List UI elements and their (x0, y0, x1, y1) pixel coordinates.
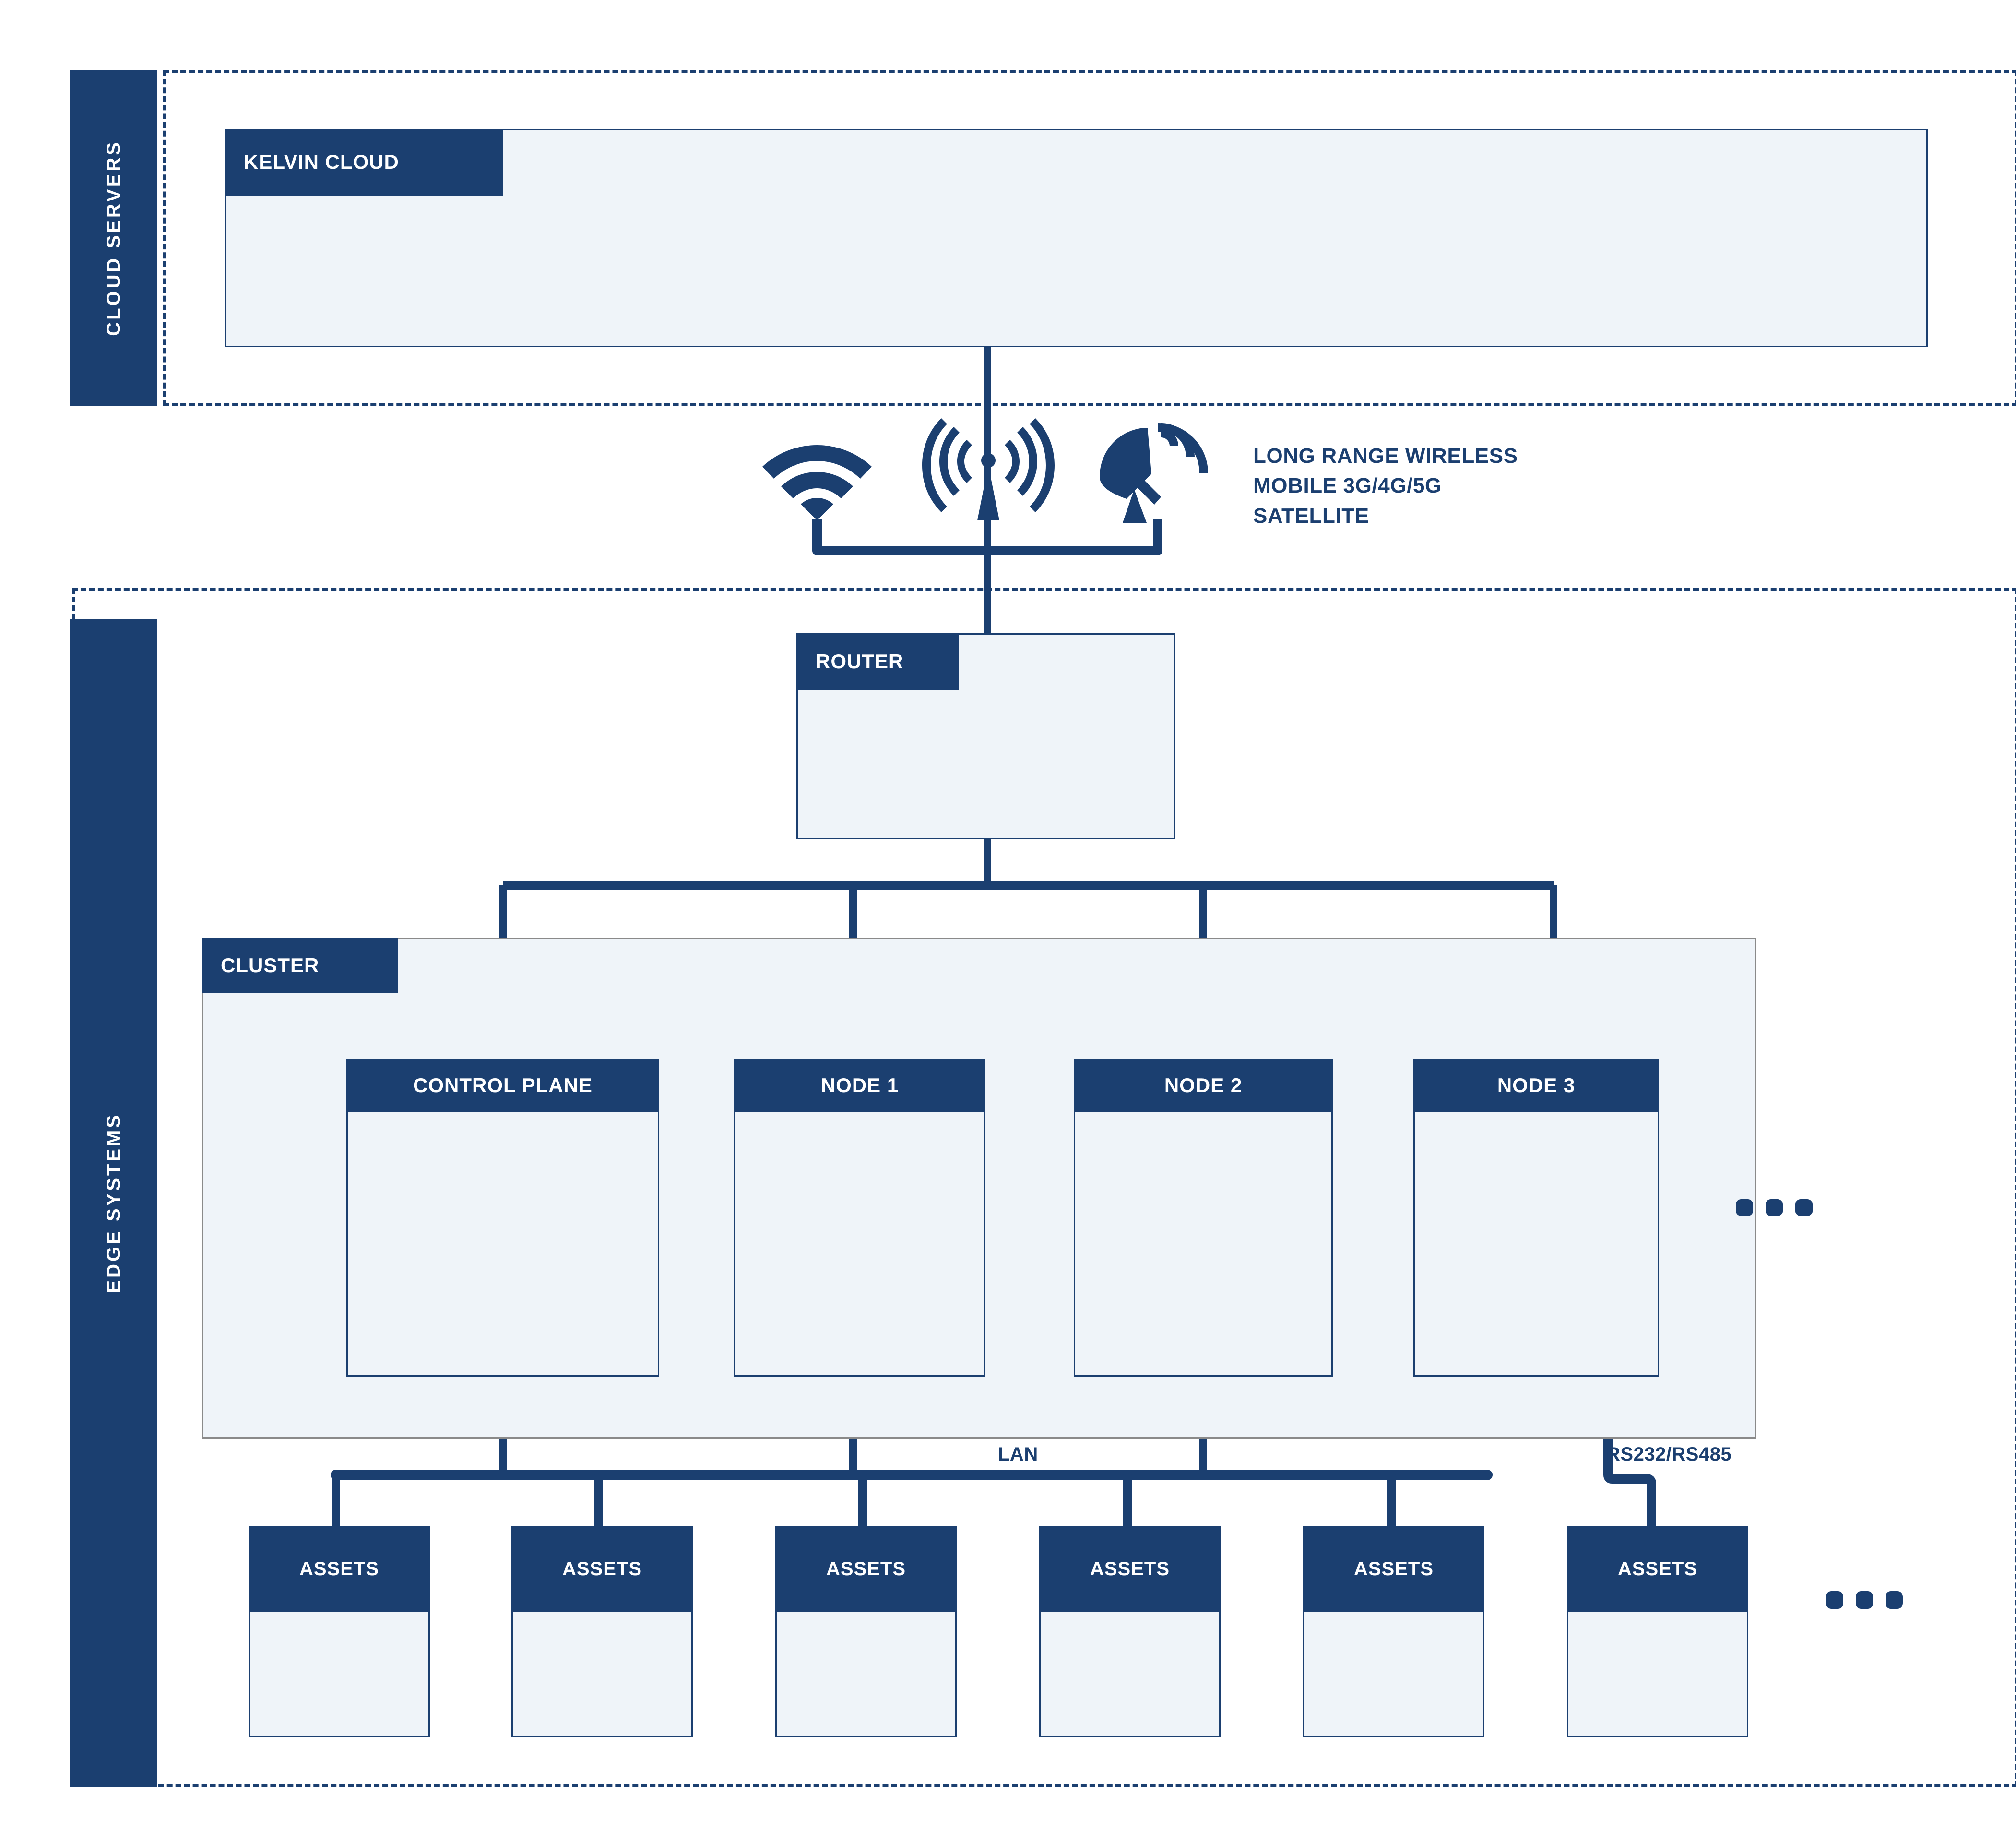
cluster-node-control-plane[interactable]: CONTROL PLANE (346, 1059, 659, 1377)
assets-overflow-dots (1826, 1591, 1903, 1609)
lan-link-label: LAN (998, 1444, 1038, 1465)
rs232-rs485-link-label: RS232/RS485 (1606, 1444, 1731, 1465)
asset-node-4[interactable]: ASSETS (1039, 1526, 1221, 1737)
assets-dot-1 (1826, 1591, 1843, 1609)
asset-node-2[interactable]: ASSETS (511, 1526, 693, 1737)
asset-6-header: ASSETS (1567, 1526, 1748, 1612)
asset-node-6[interactable]: ASSETS (1567, 1526, 1748, 1737)
asset-2-header: ASSETS (511, 1526, 693, 1612)
asset-3-header: ASSETS (775, 1526, 957, 1612)
cluster-dot-3 (1795, 1199, 1813, 1216)
router-label: ROUTER (816, 650, 903, 673)
router-node[interactable]: ROUTER (796, 633, 1175, 839)
node-1-header: NODE 1 (734, 1059, 985, 1112)
cluster-dot-2 (1766, 1199, 1783, 1216)
asset-node-5[interactable]: ASSETS (1303, 1526, 1484, 1737)
asset-4-header: ASSETS (1039, 1526, 1221, 1612)
asset-5-header: ASSETS (1303, 1526, 1484, 1612)
asset-6-label: ASSETS (1618, 1558, 1697, 1580)
router-header: ROUTER (796, 633, 959, 690)
node-1-label: NODE 1 (821, 1074, 899, 1097)
cluster-node-2[interactable]: NODE 2 (1074, 1059, 1333, 1377)
node-3-header: NODE 3 (1413, 1059, 1659, 1112)
asset-4-label: ASSETS (1090, 1558, 1170, 1580)
cluster-node-3[interactable]: NODE 3 (1413, 1059, 1659, 1377)
asset-2-label: ASSETS (562, 1558, 642, 1580)
kelvin-cloud-header: KELVIN CLOUD (225, 129, 503, 196)
cluster-dot-1 (1736, 1199, 1753, 1216)
assets-dot-2 (1856, 1591, 1873, 1609)
asset-1-header: ASSETS (249, 1526, 430, 1612)
asset-1-label: ASSETS (299, 1558, 379, 1580)
asset-node-3[interactable]: ASSETS (775, 1526, 957, 1737)
node-3-label: NODE 3 (1497, 1074, 1575, 1097)
asset-5-label: ASSETS (1354, 1558, 1434, 1580)
control-plane-label: CONTROL PLANE (413, 1074, 593, 1097)
architecture-diagram: CLOUD SERVERS KELVIN CLOUD EDGE SYSTEMS (0, 0, 2016, 1826)
node-2-label: NODE 2 (1164, 1074, 1242, 1097)
control-plane-header: CONTROL PLANE (346, 1059, 659, 1112)
kelvin-cloud-label: KELVIN CLOUD (244, 151, 399, 174)
asset-3-label: ASSETS (826, 1558, 906, 1580)
cluster-label: CLUSTER (221, 954, 319, 977)
cluster-node-1[interactable]: NODE 1 (734, 1059, 985, 1377)
assets-dot-3 (1886, 1591, 1903, 1609)
node-2-header: NODE 2 (1074, 1059, 1333, 1112)
asset-node-1[interactable]: ASSETS (249, 1526, 430, 1737)
cluster-header: CLUSTER (202, 938, 398, 993)
cluster-overflow-dots (1736, 1199, 1813, 1216)
